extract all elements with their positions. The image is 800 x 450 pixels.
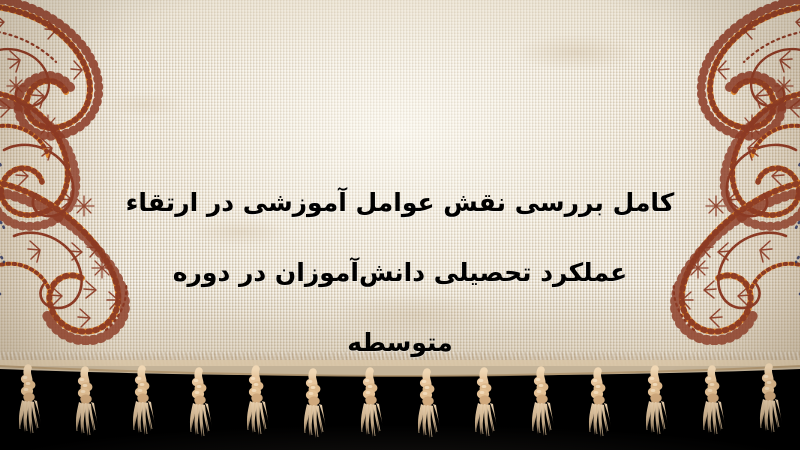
knotted-tassel-fringe: [0, 360, 800, 450]
textile-title-card: کامل بررسی نقش عوامل آموزشی در ارتقاء عم…: [0, 0, 800, 450]
title-line-2: عملکرد تحصیلی دانش‌آموزان در دوره: [0, 255, 800, 290]
page-title: کامل بررسی نقش عوامل آموزشی در ارتقاء عم…: [0, 150, 800, 395]
title-line-3: متوسطه: [0, 325, 800, 360]
title-line-1: کامل بررسی نقش عوامل آموزشی در ارتقاء: [0, 185, 800, 220]
